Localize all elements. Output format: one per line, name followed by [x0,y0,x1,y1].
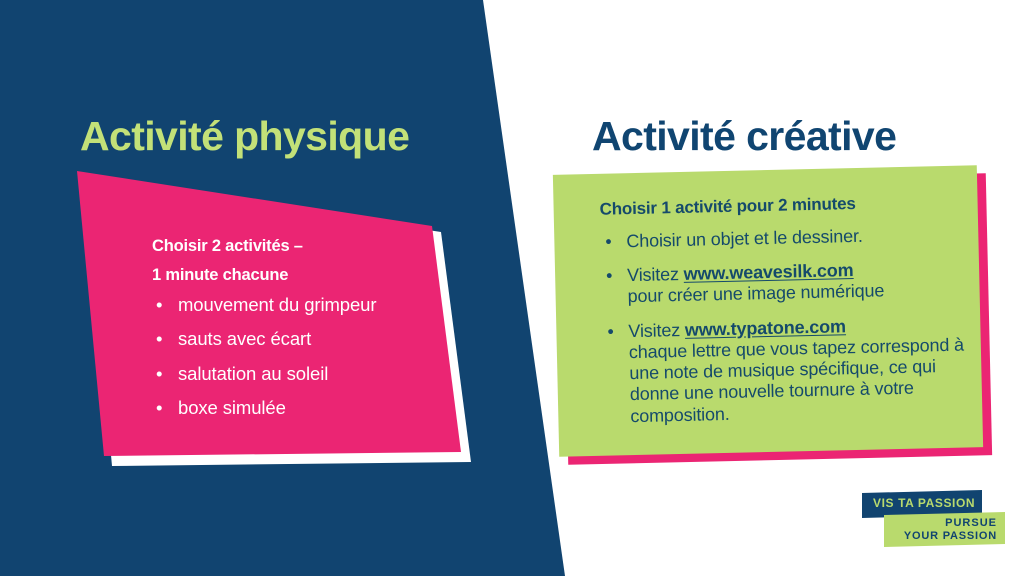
left-column: Activité physique Choisir 2 activités – … [0,0,500,576]
bullet-icon: • [607,321,614,342]
bullet-icon: • [156,330,162,349]
green-card-heading: Choisir 1 activité pour 2 minutes [599,194,855,220]
list-item-label: mouvement du grimpeur [178,294,376,315]
bullet-icon: • [156,399,162,418]
logo-green-bar: PURSUE YOUR PASSION [884,512,1005,547]
green-activity-list: • Choisir un objet et le dessiner. • Vis… [604,224,969,441]
logo-text-en-line-2: YOUR PASSION [904,530,997,542]
bullet-icon: • [605,232,612,253]
bullet-icon: • [156,365,162,384]
right-section-title: Activité créative [592,113,896,160]
pink-card-content: Choisir 2 activités – 1 minute chacune •… [152,232,452,434]
bullet-icon: • [606,266,613,287]
list-item-text: Visitez [627,264,684,285]
green-card-group: Choisir 1 activité pour 2 minutes • Choi… [556,170,980,454]
bullet-icon: • [156,296,162,315]
list-item-text: Choisir un objet et le dessiner. [626,226,863,251]
list-item: • mouvement du grimpeur [152,296,452,315]
list-item: • salutation au soleil [152,365,452,384]
list-item: • sauts avec écart [152,330,452,349]
brand-logo: VIS TA PASSION PURSUE YOUR PASSION [862,490,1007,550]
logo-text-en-line-1: PURSUE [945,517,997,529]
pink-heading-line-1: Choisir 2 activités – [152,232,452,261]
list-item-subtext: chaque lettre que vous tapez correspond … [629,335,964,426]
typatone-link[interactable]: www.typatone.com [685,316,846,340]
list-item: • Visitez www.weavesilk.com pour créer u… [605,258,966,309]
list-item: • Choisir un objet et le dessiner. [604,224,964,253]
slide: Activité physique Choisir 2 activités – … [0,0,1024,576]
pink-heading-line-2: 1 minute chacune [152,261,452,290]
list-item-subtext: pour créer une image numérique [627,281,884,307]
list-item-label: sauts avec écart [178,328,311,349]
list-item-label: salutation au soleil [178,363,328,384]
list-item: • boxe simulée [152,399,452,418]
list-item: • Visitez www.typatone.com chaque lettre… [606,313,968,427]
left-section-title: Activité physique [80,113,409,160]
pink-card-heading: Choisir 2 activités – 1 minute chacune [152,232,452,290]
logo-text-fr: VIS TA PASSION [873,496,975,510]
list-item-text: Visitez [628,320,685,341]
pink-activity-list: • mouvement du grimpeur • sauts avec éca… [152,296,452,418]
green-card-content: Choisir 1 activité pour 2 minutes • Choi… [553,165,983,457]
list-item-label: boxe simulée [178,397,286,418]
weavesilk-link[interactable]: www.weavesilk.com [683,260,853,284]
